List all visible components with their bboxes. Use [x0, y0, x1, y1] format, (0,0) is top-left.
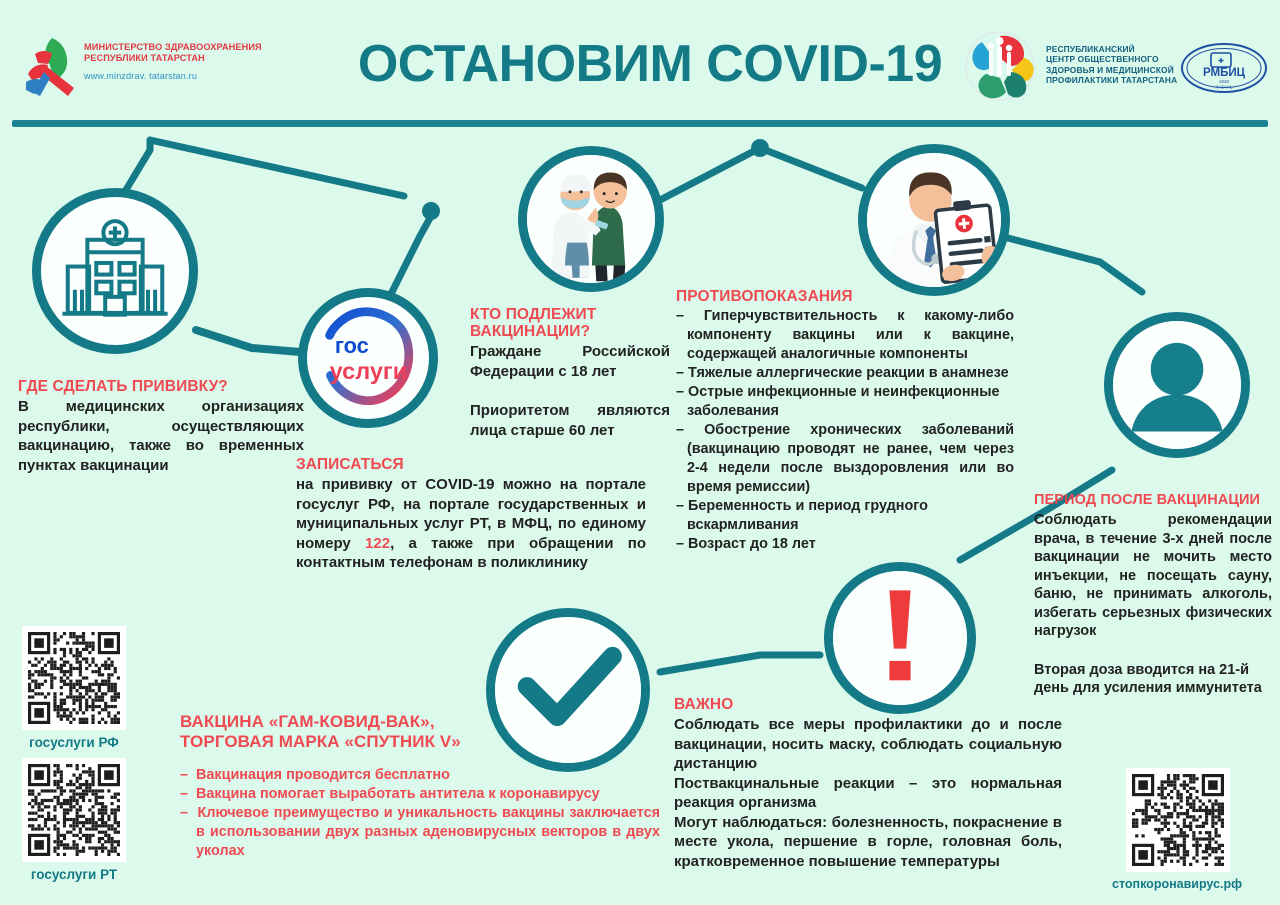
node-doctor-illustration — [858, 144, 1010, 296]
list-item: – Вакцина помогает выработать антитела к… — [180, 785, 660, 804]
block-important: ВАЖНО Соблюдать все меры профилактики до… — [674, 696, 1062, 871]
qr-gosuslugi-rt-label: госуслуги РТ — [22, 867, 126, 882]
vaccine-item-text: Вакцина помогает выработать антитела к к… — [196, 786, 600, 802]
doctor-with-clipboard-illustration — [867, 153, 1001, 287]
header: МИНИСТЕРСТВО ЗДРАВООХРАНЕНИЯ РЕСПУБЛИКИ … — [0, 0, 1280, 118]
connector-exclamation-check — [660, 655, 820, 672]
rcoz-line-1: РЕСПУБЛИКАНСКИЙ — [1046, 44, 1196, 54]
qr-stopcoronavirus-label: стопкоронавирус.рф — [1112, 877, 1230, 891]
who-body-2: Приоритетом являются лица старше 60 лет — [470, 401, 670, 440]
ministry-line-1: МИНИСТЕРСТВО ЗДРАВООХРАНЕНИЯ — [84, 42, 274, 53]
connector-gosuslugi-couple — [388, 218, 430, 300]
tatarstan-ministry-logo-icon — [22, 36, 78, 98]
after-body-2: Вторая доза вводится на 21-й день для ус… — [1034, 661, 1272, 698]
doctor-vaccinating-patient-illustration — [527, 155, 655, 283]
gosuslugi-line-2: услуги — [330, 358, 408, 384]
signup-heading: ЗАПИСАТЬСЯ — [296, 456, 646, 473]
node-person-silhouette — [1104, 312, 1250, 458]
contraindication-text: Тяжелые аллергические реакции в анамнезе — [688, 365, 1009, 381]
contraindication-text: Обострение хронических заболеваний (вакц… — [687, 422, 1014, 495]
rcoz-line-3: ЗДОРОВЬЯ И МЕДИЦИНСКОЙ — [1046, 65, 1196, 75]
node-exclamation — [824, 562, 976, 714]
who-heading-line1: КТО ПОДЛЕЖИТ — [470, 306, 670, 323]
node-gosuslugi: гос услуги — [298, 288, 438, 428]
qr-gosuslugi-rt[interactable] — [22, 758, 126, 862]
connector-hospital-gosuslugi — [196, 330, 300, 352]
list-item: – Вакцинация проводится бесплатно — [180, 766, 660, 785]
important-heading: ВАЖНО — [674, 696, 1062, 713]
block-after-vaccination: ПЕРИОД ПОСЛЕ ВАКЦИНАЦИИ Соблюдать рекоме… — [1034, 492, 1272, 698]
qr-stopcoronavirus-block[interactable]: стопкоронавирус.рф — [1126, 768, 1230, 891]
signup-body: на прививку от COVID-19 можно на портале… — [296, 475, 646, 573]
qr-gosuslugi-rf-block[interactable]: госуслуги РФ — [22, 626, 126, 750]
gosuslugi-line-1: гос — [335, 333, 369, 358]
important-paragraph-3: Могут наблюдаться: болезненность, покрас… — [674, 813, 1062, 872]
public-health-center-text: РЕСПУБЛИКАНСКИЙ ЦЕНТР ОБЩЕСТВЕННОГО ЗДОР… — [1046, 44, 1196, 86]
vaccine-item-text: Ключевое преимущество и уникальность вак… — [196, 805, 660, 859]
list-item: – Беременность и период грудного вскармл… — [676, 497, 1014, 535]
node-vaccination-illustration — [518, 146, 664, 292]
node-hospital — [32, 188, 198, 354]
rcoz-line-4: ПРОФИЛАКТИКИ ТАТАРСТАНА — [1046, 75, 1196, 85]
list-item: – Обострение хронических заболеваний (ва… — [676, 421, 1014, 497]
connector-doctor-person — [1008, 238, 1142, 292]
qr-stopcoronavirus[interactable] — [1126, 768, 1230, 872]
qr-gosuslugi-rf-label: госуслуги РФ — [22, 735, 126, 750]
rmbic-sub: 1920 — [1219, 79, 1230, 84]
ministry-line-2: РЕСПУБЛИКИ ТАТАРСТАН — [84, 53, 274, 64]
header-divider — [12, 120, 1268, 127]
ministry-logo-block: МИНИСТЕРСТВО ЗДРАВООХРАНЕНИЯ РЕСПУБЛИКИ … — [22, 36, 272, 100]
contraindication-text: Острые инфекционные и неинфекционные заб… — [687, 384, 1000, 419]
list-item: – Тяжелые аллергические реакции в анамне… — [676, 364, 1014, 383]
contraindications-list: – Гиперчувствительность к какому-либо ко… — [676, 307, 1014, 554]
vaccine-heading-line2: ТОРГОВАЯ МАРКА «СПУТНИК V» — [180, 732, 660, 752]
important-paragraph-1: Соблюдать все меры профилактики до и пос… — [674, 715, 1062, 774]
contraindication-text: Возраст до 18 лет — [688, 536, 816, 552]
gosuslugi-logo-icon: гос услуги — [307, 297, 429, 419]
connector-top-rail-1 — [150, 140, 404, 196]
exclamation-mark-icon — [833, 571, 967, 705]
who-body: Граждане Российской Федерации с 18 лет — [470, 342, 670, 381]
block-signup: ЗАПИСАТЬСЯ на прививку от COVID-19 можно… — [296, 456, 646, 573]
rmbic-seal-logo-icon: РМБИЦ 1920 КАЗАНЬ — [1180, 42, 1268, 94]
contraindication-text: Беременность и период грудного вскармлив… — [687, 498, 928, 533]
where-heading: ГДЕ СДЕЛАТЬ ПРИВИВКУ? — [18, 378, 304, 395]
contraindication-text: Гиперчувствительность к какому-либо комп… — [687, 308, 1014, 362]
important-paragraph-2: Поствакцинальные реакции – это нормальна… — [674, 774, 1062, 813]
block-contraindications: ПРОТИВОПОКАЗАНИЯ – Гиперчувствительность… — [676, 288, 1014, 554]
rcoz-line-2: ЦЕНТР ОБЩЕСТВЕННОГО — [1046, 54, 1196, 64]
rmbic-label: РМБИЦ — [1203, 67, 1246, 79]
who-heading-line2: ВАКЦИНАЦИИ? — [470, 323, 670, 340]
vaccine-item-text: Вакцинация проводится бесплатно — [196, 767, 450, 783]
list-item: – Ключевое преимущество и уникальность в… — [180, 804, 660, 861]
public-health-center-logo-icon — [960, 28, 1040, 106]
vaccine-list: – Вакцинация проводится бесплатно – Вакц… — [180, 766, 660, 861]
qr-gosuslugi-rf[interactable] — [22, 626, 126, 730]
contraindications-heading: ПРОТИВОПОКАЗАНИЯ — [676, 288, 1014, 305]
after-heading: ПЕРИОД ПОСЛЕ ВАКЦИНАЦИИ — [1034, 492, 1272, 509]
block-vaccine: ВАКЦИНА «ГАМ-КОВИД-ВАК», ТОРГОВАЯ МАРКА … — [180, 712, 660, 861]
block-where-to-vaccinate: ГДЕ СДЕЛАТЬ ПРИВИВКУ? В медицинских орга… — [18, 378, 304, 475]
qr-gosuslugi-rt-block[interactable]: госуслуги РТ — [22, 758, 126, 882]
hospital-icon — [41, 197, 189, 345]
signup-phone-number: 122 — [365, 535, 390, 552]
block-who-is-eligible: КТО ПОДЛЕЖИТ ВАКЦИНАЦИИ? Граждане Россий… — [470, 306, 670, 440]
ministry-logo-text: МИНИСТЕРСТВО ЗДРАВООХРАНЕНИЯ РЕСПУБЛИКИ … — [84, 42, 274, 81]
vaccine-heading-line1: ВАКЦИНА «ГАМ-КОВИД-ВАК», — [180, 712, 660, 732]
rmbic-city: КАЗАНЬ — [1215, 85, 1232, 90]
list-item: – Возраст до 18 лет — [676, 535, 1014, 554]
list-item: – Гиперчувствительность к какому-либо ко… — [676, 307, 1014, 364]
list-item: – Острые инфекционные и неинфекционные з… — [676, 383, 1014, 421]
page-title: ОСТАНОВИМ COVID-19 — [340, 33, 960, 95]
person-silhouette-icon — [1113, 321, 1241, 449]
infographic-page: МИНИСТЕРСТВО ЗДРАВООХРАНЕНИЯ РЕСПУБЛИКИ … — [0, 0, 1280, 905]
ministry-url: www.minzdrav. tatarstan.ru — [84, 71, 274, 81]
after-body: Соблюдать рекомендации врача, в течение … — [1034, 511, 1272, 641]
connector-couple-doctor — [660, 148, 862, 200]
where-body: В медицинских организациях республики, о… — [18, 397, 304, 475]
